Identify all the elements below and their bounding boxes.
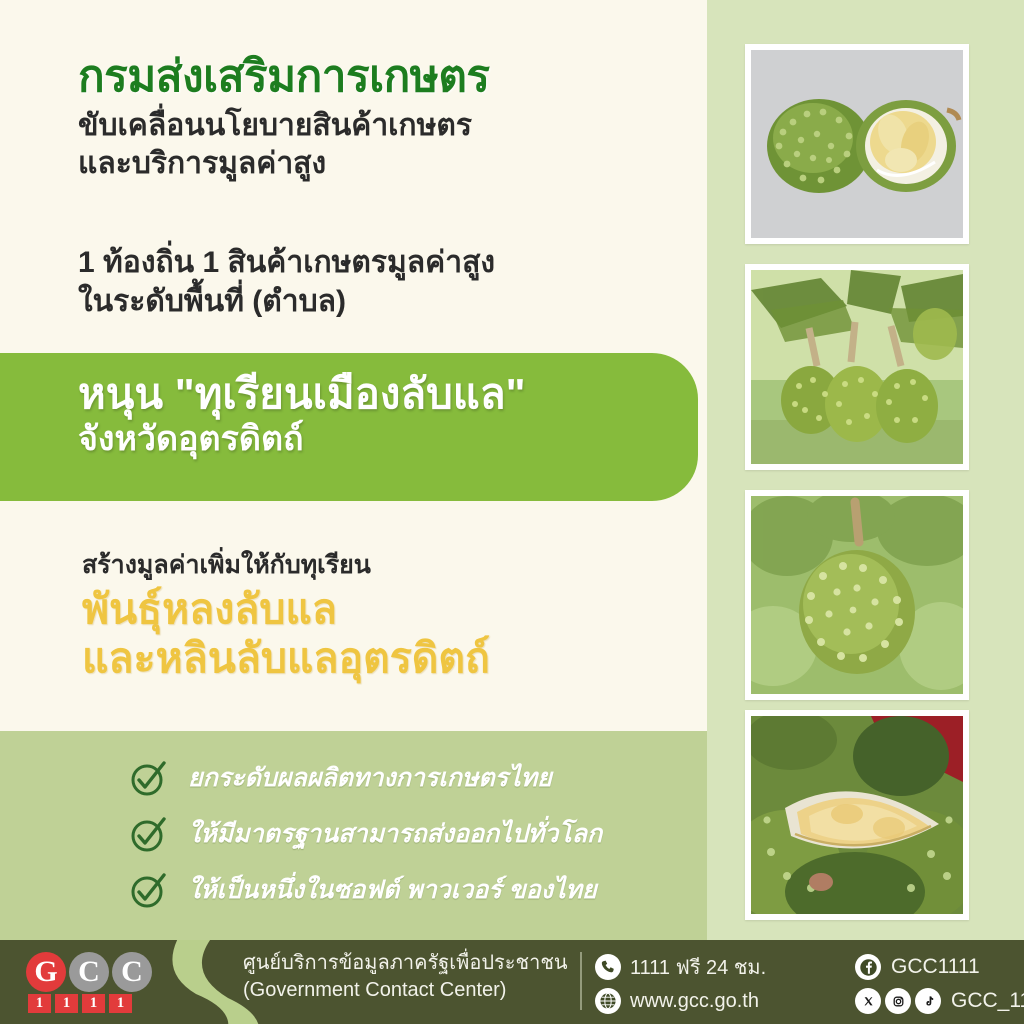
footer-phone-row[interactable]: 1111 ฟรี 24 ชม. bbox=[595, 950, 855, 984]
gcc-logo-digits: 1 1 1 1 bbox=[28, 994, 160, 1013]
gcc-logo-digit-2: 1 bbox=[55, 994, 78, 1013]
header-block: กรมส่งเสริมการเกษตร ขับเคลื่อนนโยบายสินค… bbox=[78, 52, 698, 183]
facebook-icon-group bbox=[855, 954, 881, 980]
social-icon-group bbox=[855, 988, 941, 1014]
footer-facebook-handle: GCC1111 bbox=[891, 955, 980, 979]
footer-website-label: www.gcc.go.th bbox=[630, 990, 759, 1013]
gcc-logo-digit-4: 1 bbox=[109, 994, 132, 1013]
footer-org-name-en: (Government Contact Center) bbox=[243, 977, 573, 1004]
gcc-logo-letter-c2: C bbox=[112, 952, 152, 992]
value-add-highlight: พันธุ์หลงลับแล และหลินลับแลอุตรดิตถ์ bbox=[82, 585, 692, 682]
gcc-logo-digit-3: 1 bbox=[82, 994, 105, 1013]
page-subtitle: ขับเคลื่อนนโยบายสินค้าเกษตร และบริการมูล… bbox=[78, 107, 698, 183]
photo-content bbox=[751, 716, 963, 914]
durian-hanging-single-photo bbox=[745, 490, 969, 700]
value-add-lead-text: สร้างมูลค่าเพิ่มให้กับทุเรียน bbox=[82, 550, 692, 581]
photo-content bbox=[751, 50, 963, 238]
slogan-line-1: 1 ท้องถิ่น 1 สินค้าเกษตรมูลค่าสูง bbox=[78, 243, 698, 282]
footer-website-row[interactable]: www.gcc.go.th bbox=[595, 984, 855, 1018]
check-circle-icon bbox=[128, 869, 170, 911]
check-circle-icon bbox=[128, 813, 170, 855]
page-subtitle-line-2: และบริการมูลค่าสูง bbox=[78, 145, 698, 183]
footer-phone-label: 1111 ฟรี 24 ชม. bbox=[630, 951, 766, 983]
footer-org-name-th: ศูนย์บริการข้อมูลภาครัฐเพื่อประชาชน bbox=[243, 950, 573, 977]
footer-contact-info: 1111 ฟรี 24 ชม. www.gcc.go.th bbox=[595, 950, 855, 1018]
photo-content bbox=[751, 496, 963, 694]
slogan-line-2: ในระดับพื้นที่ (ตำบล) bbox=[78, 282, 698, 321]
gcc-logo: G C C 1 1 1 1 bbox=[26, 952, 160, 1014]
list-item: ให้มีมาตรฐานสามารถส่งออกไปทั่วโลก bbox=[128, 808, 688, 860]
facebook-icon[interactable] bbox=[855, 954, 881, 980]
footer-facebook-row[interactable]: GCC1111 bbox=[855, 950, 1020, 984]
benefit-label: ยกระดับผลผลิตทางการเกษตรไทย bbox=[188, 763, 552, 793]
footer-social-info: GCC1111 bbox=[855, 950, 1020, 1018]
benefit-label: ให้เป็นหนึ่งในซอฟต์ พาวเวอร์ ของไทย bbox=[188, 875, 597, 905]
footer-org-name: ศูนย์บริการข้อมูลภาครัฐเพื่อประชาชน (Gov… bbox=[243, 950, 573, 1004]
globe-icon bbox=[595, 988, 621, 1014]
highlight-banner: หนุน "ทุเรียนเมืองลับแล" จังหวัดอุตรดิตถ… bbox=[0, 353, 698, 501]
footer-social-handle: GCC_1111 bbox=[951, 989, 1024, 1013]
gcc-logo-letters: G C C bbox=[26, 952, 160, 992]
footer-divider bbox=[580, 952, 582, 1010]
value-add-highlight-line-2: และหลินลับแลอุตรดิตถ์ bbox=[82, 634, 692, 682]
slogan-block: 1 ท้องถิ่น 1 สินค้าเกษตรมูลค่าสูง ในระดั… bbox=[78, 243, 698, 321]
value-add-highlight-line-1: พันธุ์หลงลับแล bbox=[82, 585, 692, 633]
photo-content bbox=[751, 270, 963, 464]
page-subtitle-line-1: ขับเคลื่อนนโยบายสินค้าเกษตร bbox=[78, 107, 698, 145]
page-title: กรมส่งเสริมการเกษตร bbox=[78, 52, 698, 101]
highlight-banner-content: หนุน "ทุเรียนเมืองลับแล" จังหวัดอุตรดิตถ… bbox=[78, 369, 678, 460]
gcc-logo-digit-1: 1 bbox=[28, 994, 51, 1013]
durian-on-branch-photo bbox=[745, 264, 969, 470]
footer-social-handles-row[interactable]: GCC_1111 bbox=[855, 984, 1020, 1018]
durian-opened-flesh-photo bbox=[745, 710, 969, 920]
phone-icon bbox=[595, 954, 621, 980]
benefit-label: ให้มีมาตรฐานสามารถส่งออกไปทั่วโลก bbox=[188, 819, 602, 849]
gcc-logo-letter-g: G bbox=[26, 952, 66, 992]
list-item: ยกระดับผลผลิตทางการเกษตรไทย bbox=[128, 752, 688, 804]
x-twitter-icon[interactable] bbox=[855, 988, 881, 1014]
instagram-icon[interactable] bbox=[885, 988, 911, 1014]
gcc-logo-letter-c1: C bbox=[69, 952, 109, 992]
list-item: ให้เป็นหนึ่งในซอฟต์ พาวเวอร์ ของไทย bbox=[128, 864, 688, 916]
tiktok-icon[interactable] bbox=[915, 988, 941, 1014]
value-add-block: สร้างมูลค่าเพิ่มให้กับทุเรียน พันธุ์หลงล… bbox=[82, 550, 692, 682]
durian-whole-and-opened-photo bbox=[745, 44, 969, 244]
benefits-checklist: ยกระดับผลผลิตทางการเกษตรไทย ให้มีมาตรฐาน… bbox=[128, 752, 688, 920]
check-circle-icon bbox=[128, 757, 170, 799]
highlight-banner-line-1: หนุน "ทุเรียนเมืองลับแล" bbox=[78, 369, 678, 419]
highlight-banner-line-2: จังหวัดอุตรดิตถ์ bbox=[78, 419, 678, 460]
poster-canvas: กรมส่งเสริมการเกษตร ขับเคลื่อนนโยบายสินค… bbox=[0, 0, 1024, 1024]
